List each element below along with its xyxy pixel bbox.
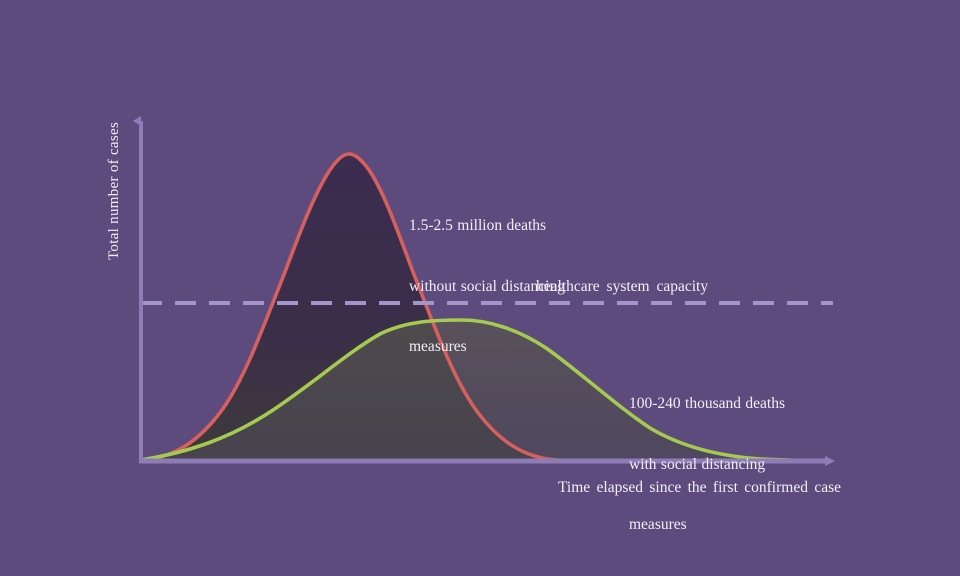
y-axis-label: Total number of cases	[105, 236, 125, 260]
annotation-without-social-distancing: 1.5-2.5 million deaths without social di…	[409, 176, 565, 398]
annotation-without-line-1: 1.5-2.5 million deaths	[409, 216, 565, 236]
annotation-with-line-1: 100-240 thousand deaths	[629, 394, 785, 414]
annotation-with-social-distancing: 100-240 thousand deaths with social dist…	[629, 354, 785, 576]
annotation-with-line-2: with social distancing	[629, 455, 785, 475]
annotation-with-line-3: measures	[629, 515, 785, 535]
annotation-without-line-2: without social distancing	[409, 277, 565, 297]
chart-canvas: Total number of cases Time elapsed since…	[0, 0, 960, 540]
annotation-without-line-3: measures	[409, 337, 565, 357]
